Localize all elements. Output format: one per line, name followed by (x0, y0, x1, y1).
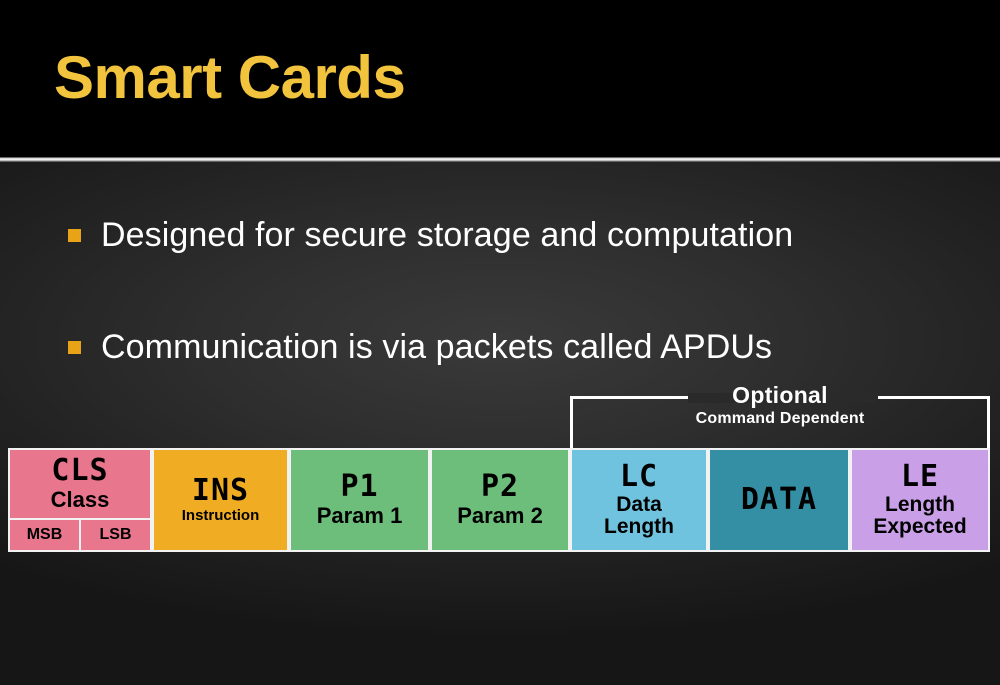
apdu-cell-ins-label: Instruction (182, 508, 260, 524)
apdu-cell-p2-code: P2 (481, 472, 519, 502)
apdu-cell-data: DATA (708, 448, 850, 552)
apdu-cell-le: LE Length Expected (850, 448, 990, 552)
apdu-structure-diagram: CLS Class MSB LSB INS Instruction P1 Par… (8, 448, 990, 552)
slide-title: Smart Cards (54, 48, 405, 108)
apdu-cell-data-code: DATA (741, 485, 817, 515)
apdu-cell-p2-label: Param 2 (457, 504, 543, 527)
apdu-cell-p1-label: Param 1 (317, 504, 403, 527)
apdu-cell-lc: LC Data Length (570, 448, 708, 552)
bullet-square-icon (68, 341, 81, 354)
apdu-cell-cls-code: CLS (51, 456, 108, 486)
apdu-cell-cls-label: Class (51, 488, 110, 511)
optional-title: Optional (570, 382, 990, 409)
apdu-cell-p1-code: P1 (340, 472, 378, 502)
bullet-item-1-text: Designed for secure storage and computat… (101, 216, 793, 255)
presentation-slide: Smart Cards Designed for secure storage … (0, 0, 1000, 685)
apdu-cell-cls-msb: MSB (10, 520, 79, 550)
bullet-item-2-text: Communication is via packets called APDU… (101, 328, 772, 367)
bullet-item-1: Designed for secure storage and computat… (68, 216, 793, 255)
apdu-cell-ins: INS Instruction (152, 448, 289, 552)
apdu-cell-cls-subrow: MSB LSB (10, 518, 150, 550)
bullet-item-2: Communication is via packets called APDU… (68, 328, 772, 367)
optional-subtitle: Command Dependent (570, 410, 990, 428)
apdu-cell-cls-lsb: LSB (79, 520, 150, 550)
apdu-cell-p2: P2 Param 2 (430, 448, 570, 552)
apdu-cell-le-code: LE (901, 462, 939, 492)
apdu-cell-ins-code: INS (192, 476, 249, 506)
apdu-cell-cls: CLS Class MSB LSB (8, 448, 152, 552)
apdu-cell-le-label: Length Expected (858, 494, 983, 538)
bullet-square-icon (68, 229, 81, 242)
apdu-cell-lc-code: LC (620, 462, 658, 492)
apdu-cell-p1: P1 Param 1 (289, 448, 430, 552)
apdu-cell-cls-main: CLS Class (10, 450, 150, 518)
apdu-cell-lc-label: Data Length (592, 494, 687, 538)
optional-section-bracket: Optional Command Dependent (570, 396, 990, 448)
